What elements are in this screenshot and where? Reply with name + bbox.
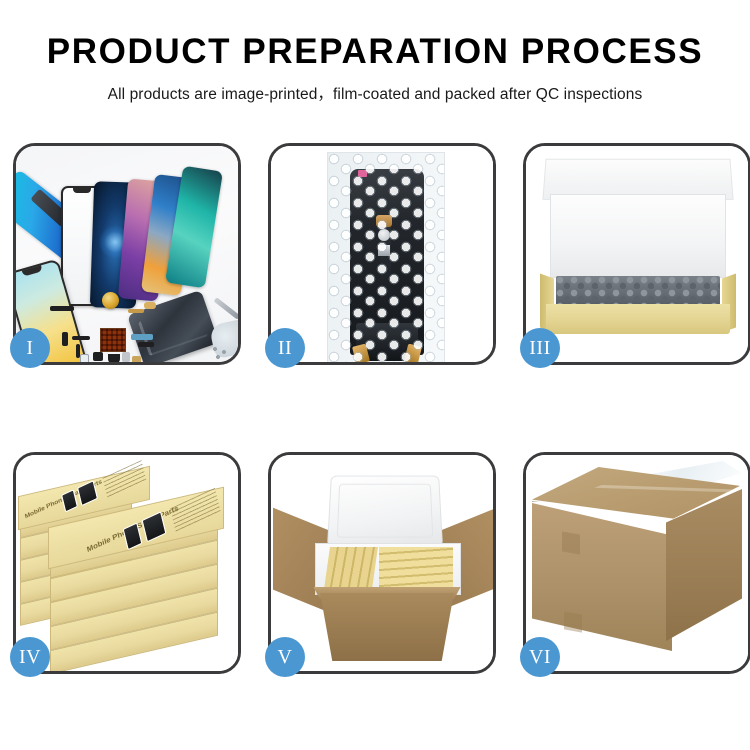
- step-badge-1: I: [10, 328, 50, 368]
- process-step-grid: I II: [13, 143, 737, 674]
- spare-part: [93, 352, 103, 361]
- spare-part: [108, 354, 120, 362]
- step-5-image: [271, 455, 493, 671]
- carton-front-face: [311, 593, 463, 661]
- process-step-panel-1[interactable]: I: [13, 143, 241, 365]
- process-step-panel-3[interactable]: III: [523, 143, 750, 365]
- screws-group: [212, 346, 232, 360]
- box-lid-spec-text: [103, 460, 147, 498]
- spare-part: [128, 309, 144, 313]
- spare-part: [50, 306, 74, 311]
- spare-part: [72, 336, 90, 340]
- chip-grid-part: [100, 328, 126, 352]
- speaker-part-icon: [102, 292, 119, 309]
- spare-part: [144, 302, 156, 309]
- page-subtitle: All products are image-printed，film-coat…: [0, 82, 750, 104]
- step-3-image: [526, 146, 748, 362]
- step-badge-6: VI: [520, 637, 560, 677]
- step-badge-3: III: [520, 328, 560, 368]
- box-tray-front: [546, 304, 730, 334]
- step-4-image: Mobile Phone Spare Parts Mobile Phone Sp…: [16, 455, 238, 671]
- step-1-image: [16, 146, 238, 362]
- spare-part: [122, 352, 130, 362]
- carton-tab-lower: [564, 611, 582, 632]
- packed-yellow-boxes-left: [324, 547, 378, 589]
- spare-part: [138, 342, 154, 347]
- process-step-panel-2[interactable]: II: [268, 143, 496, 365]
- step-6-image: [526, 455, 748, 671]
- box-lid-face: [550, 194, 726, 278]
- bubble-texture: [328, 153, 444, 362]
- process-step-panel-5[interactable]: V: [268, 452, 496, 674]
- spare-part: [62, 332, 68, 346]
- box-stack: Mobile Phone Spare Parts Mobile Phone Sp…: [16, 455, 238, 671]
- step-badge-4: IV: [10, 637, 50, 677]
- process-step-panel-4[interactable]: Mobile Phone Spare Parts Mobile Phone Sp…: [13, 452, 241, 674]
- spare-part: [132, 356, 141, 362]
- step-2-image: [271, 146, 493, 362]
- step-badge-5: V: [265, 637, 305, 677]
- step-badge-2: II: [265, 328, 305, 368]
- packed-yellow-boxes-right: [379, 547, 453, 589]
- box-lid-spec-text: [170, 488, 221, 533]
- spare-part: [80, 354, 89, 362]
- carton-tab-upper: [562, 531, 580, 554]
- spare-part: [131, 334, 153, 340]
- styrofoam-lid: [327, 476, 443, 547]
- page-header: PRODUCT PREPARATION PROCESS All products…: [0, 0, 750, 104]
- bubble-wrap-bag: [327, 152, 445, 362]
- page-title: PRODUCT PREPARATION PROCESS: [0, 34, 750, 71]
- process-step-panel-6[interactable]: VI: [523, 452, 750, 674]
